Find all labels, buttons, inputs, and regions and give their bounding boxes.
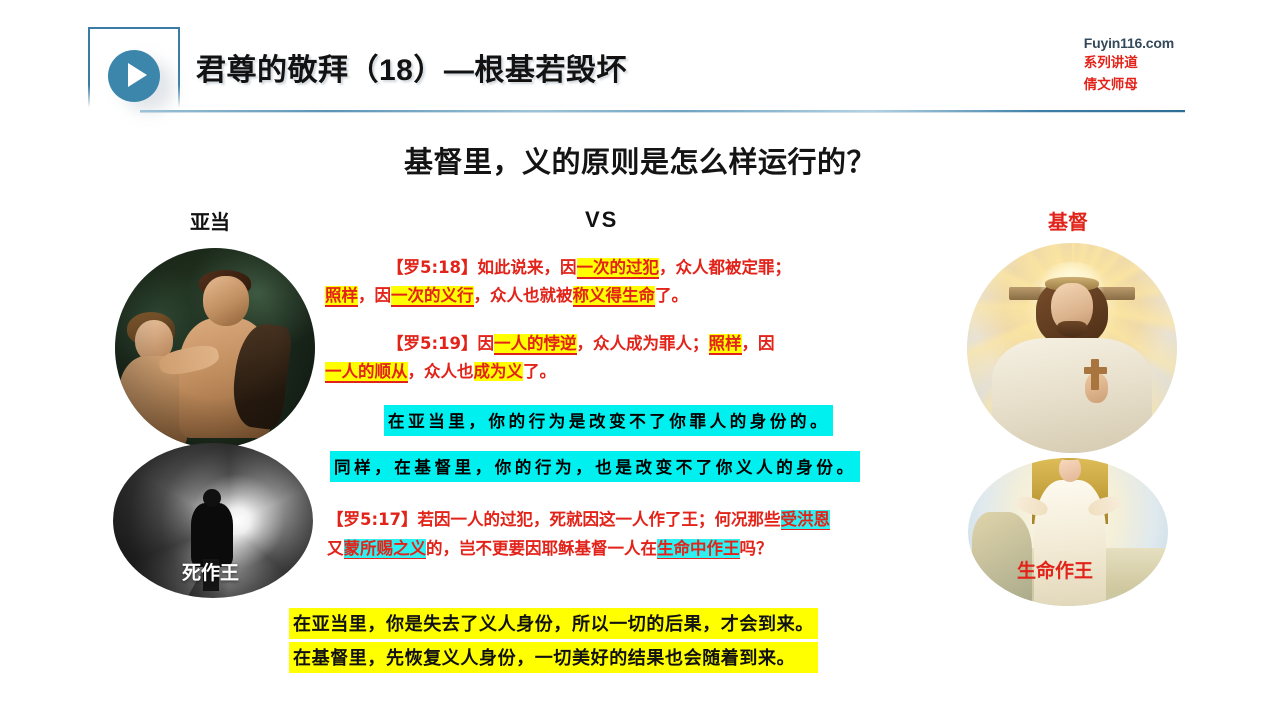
label-adam: 亚当 (190, 206, 230, 235)
rom517-l2c: 吗？ (740, 539, 773, 558)
brand-site: Fuyin116.com (1084, 33, 1174, 53)
label-christ: 基督 (1048, 206, 1088, 235)
cyan-statement-christ: 同样，在基督里，你的行为，也是改变不了你义人的身份。 (330, 451, 860, 482)
adam-eve-artwork (115, 248, 315, 448)
rom519-l1-highlight2: 照样 (709, 334, 742, 355)
rom519-l1-highlight1: 一人的悖逆 (494, 334, 577, 355)
caption-life-reigns: 生命作王 (1017, 556, 1093, 583)
rom518-l2-highlight2: 一次的义行 (391, 286, 474, 307)
image-life-reigns (968, 458, 1168, 606)
jesus-artwork (967, 243, 1177, 453)
rom518-l2b: ，众人也就被 (474, 286, 573, 305)
rom519-l2-highlight1: 一人的顺从 (325, 362, 408, 383)
rom519-l2b: 了。 (523, 362, 556, 381)
rom519-l1b: ，众人成为罪人； (577, 334, 709, 353)
label-vs: VS (585, 207, 618, 233)
rom518-ref: 【罗5:18】 (387, 258, 478, 277)
rom517-l2-highlight2: 生命中作王 (657, 539, 740, 559)
rom517-line2: 又蒙所赐之义的，岂不更要因耶稣基督一人在生命中作王吗？ (327, 535, 773, 563)
rom519-l2-highlight2: 成为义 (474, 362, 524, 381)
image-adam-and-eve (115, 248, 315, 448)
rom519-ref: 【罗5:19】 (387, 334, 478, 353)
conclusion-line-christ: 在基督里，先恢复义人身份，一切美好的结果也会随着到来。 (289, 642, 818, 673)
brand-speaker: 倩文师母 (1084, 75, 1174, 97)
play-triangle-icon (128, 63, 147, 87)
rom518-l2-highlight3: 称义得生命 (573, 286, 656, 307)
conclusion-block: 在亚当里，你是失去了义人身份，所以一切的后果，才会到来。 在基督里，先恢复义人身… (289, 608, 818, 676)
page-title: 君尊的敬拜（18）—根基若毁坏 (196, 45, 627, 89)
rom517-l1-highlight: 受洪恩 (781, 510, 831, 530)
rom518-l1a: 如此说来，因 (478, 258, 577, 277)
slide-header: 君尊的敬拜（18）—根基若毁坏 Fuyin116.com 系列讲道 倩文师母 (0, 0, 1280, 120)
rom518-l1-highlight: 一次的过犯 (577, 258, 660, 279)
rom519-l1c: ，因 (742, 334, 775, 353)
slide-root: 君尊的敬拜（18）—根基若毁坏 Fuyin116.com 系列讲道 倩文师母 基… (0, 0, 1280, 720)
cyan-statement-adam: 在亚当里，你的行为是改变不了你罪人的身份的。 (384, 405, 833, 436)
rom518-l2-highlight1: 照样 (325, 286, 358, 307)
header-divider-shadow (140, 112, 1185, 113)
rom517-line1: 【罗5:17】若因一人的过犯，死就因这一人作了王；何况那些受洪恩 (327, 506, 830, 534)
rom518-line2: 照样，因一次的义行，众人也就被称义得生命了。 (325, 283, 688, 310)
rom517-l2a: 又 (327, 539, 344, 558)
rom519-l2a: ，众人也 (408, 362, 474, 381)
brand-series: 系列讲道 (1084, 53, 1174, 75)
image-jesus-christ (967, 243, 1177, 453)
rom518-l1b: ，众人都被定罪； (659, 258, 791, 277)
rom519-line2: 一人的顺从，众人也成为义了。 (325, 359, 556, 386)
conclusion-line-adam: 在亚当里，你是失去了义人身份，所以一切的后果，才会到来。 (289, 608, 818, 639)
rom518-l2c: 了。 (655, 286, 688, 305)
rom517-l2-highlight1: 蒙所赐之义 (344, 539, 427, 559)
caption-death-reigns: 死作王 (182, 558, 239, 585)
rom519-l1a: 因 (478, 334, 495, 353)
rom519-line1: 【罗5:19】因一人的悖逆，众人成为罪人；照样，因 (387, 331, 775, 358)
rom517-l2b: 的，岂不更要因耶稣基督一人在 (426, 539, 657, 558)
rom518-l2a: ，因 (358, 286, 391, 305)
rom517-l1a: 若因一人的过犯，死就因这一人作了王；何况那些 (418, 510, 781, 529)
brand-block: Fuyin116.com 系列讲道 倩文师母 (1084, 33, 1174, 97)
main-question: 基督里，义的原则是怎么样运行的？ (0, 139, 1280, 181)
rom518-line1: 【罗5:18】如此说来，因一次的过犯，众人都被定罪； (387, 255, 791, 282)
rom517-ref: 【罗5:17】 (327, 510, 418, 529)
